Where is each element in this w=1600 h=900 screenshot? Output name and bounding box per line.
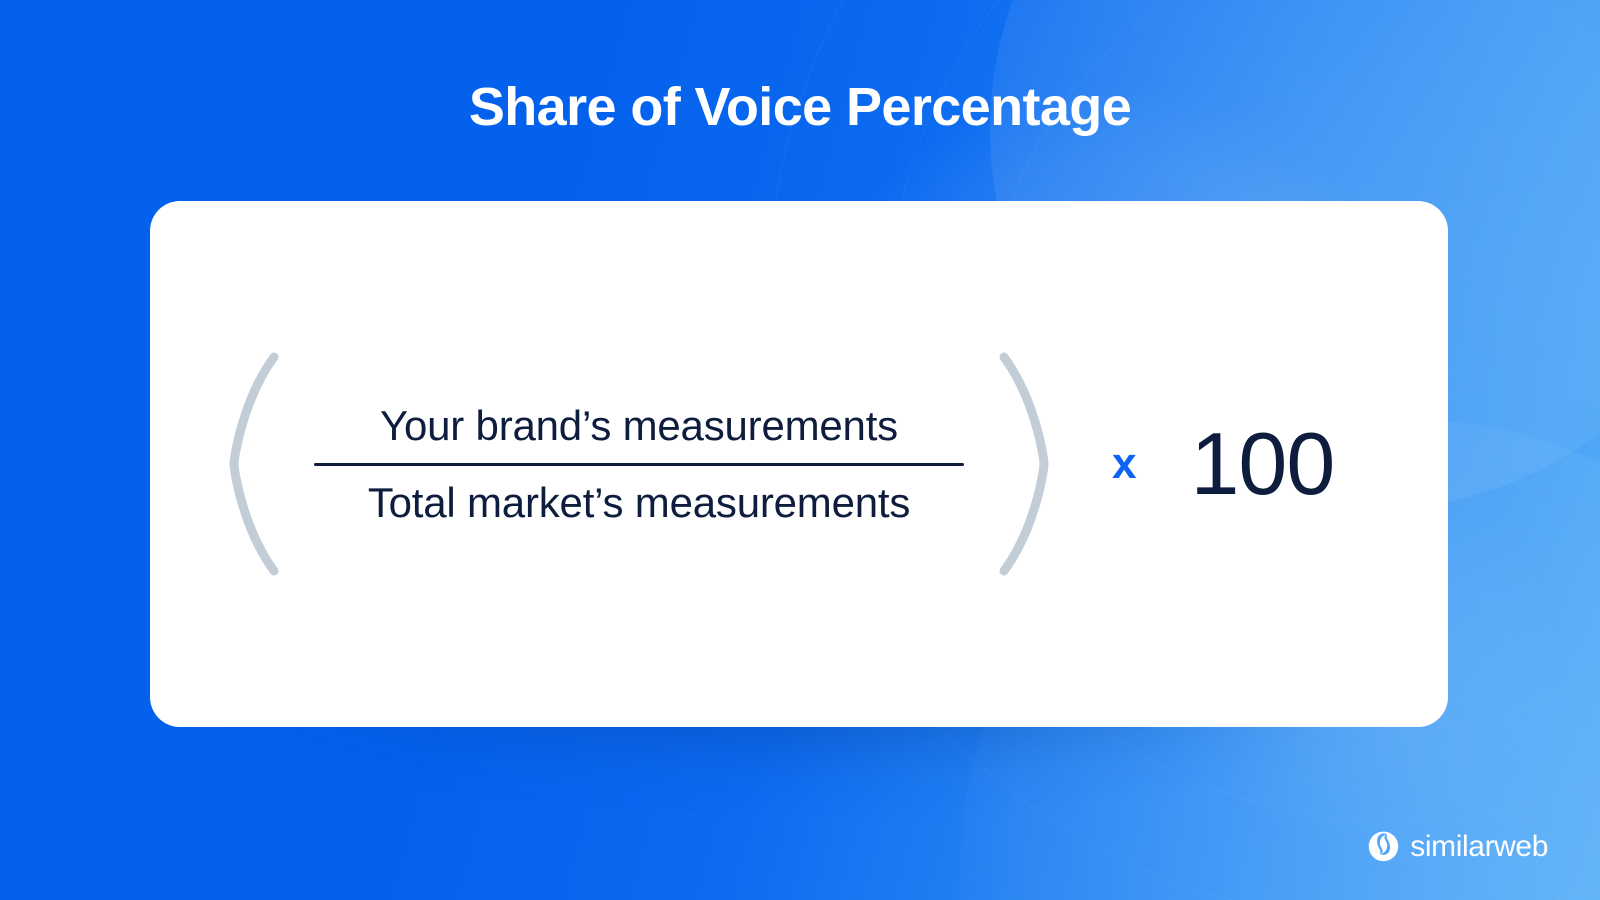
fraction: Your brand’s measurements Total market’s… [294,399,984,530]
multiplier-value: 100 [1190,416,1334,512]
similarweb-logo: similarweb [1368,831,1548,862]
fraction-denominator: Total market’s measurements [368,476,910,530]
similarweb-wordmark: similarweb [1410,831,1548,862]
multiply-symbol: x [1112,437,1136,491]
page-title: Share of Voice Percentage [0,72,1600,142]
open-parenthesis-icon [228,349,284,579]
fraction-numerator: Your brand’s measurements [380,399,898,453]
infographic-stage: Share of Voice Percentage Your brand’s m… [0,0,1600,900]
share-of-voice-formula: Your brand’s measurements Total market’s… [150,201,1448,727]
formula-card: Your brand’s measurements Total market’s… [150,201,1448,727]
close-parenthesis-icon [994,349,1050,579]
fraction-bar [314,463,964,466]
similarweb-s-mark-icon [1368,831,1399,862]
